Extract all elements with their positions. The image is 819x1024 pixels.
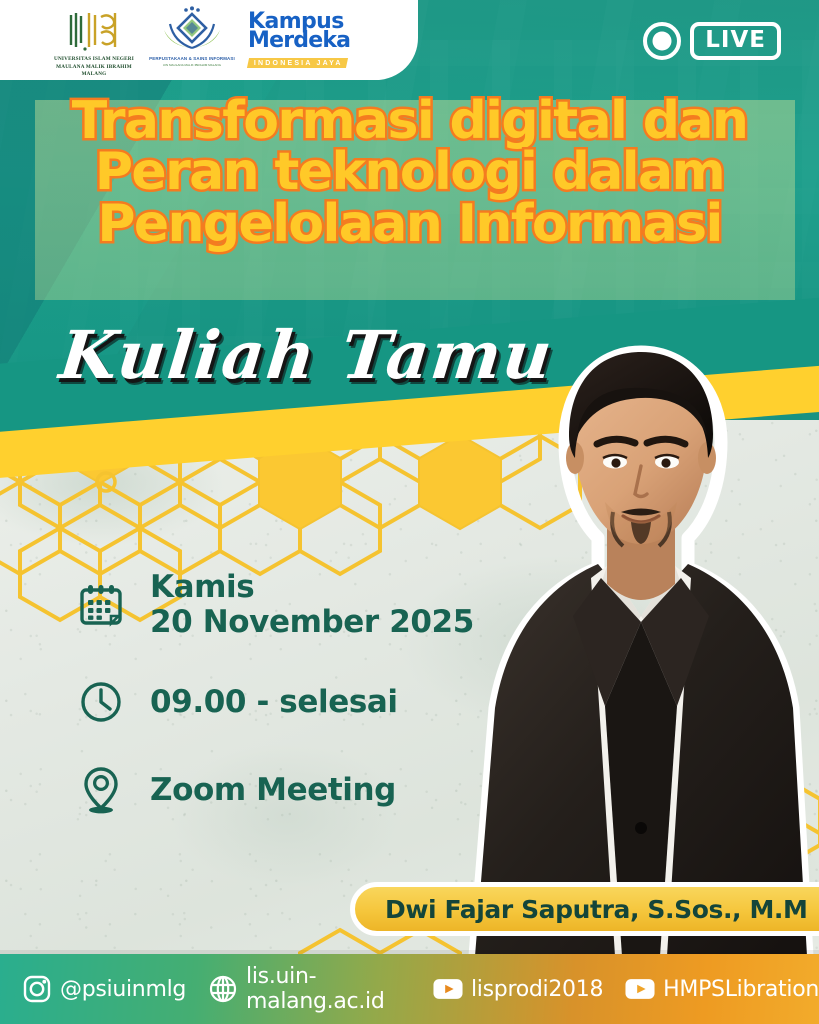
detail-row-time: 09.00 - selesai: [78, 677, 474, 727]
footer-instagram-handle: @psiuinmlg: [60, 977, 186, 1002]
detail-date-day: Kamis: [150, 570, 474, 605]
uin-caption-line-2: MAULANA MALIK IBRAHIM: [38, 64, 150, 72]
detail-date-full: 20 November 2025: [150, 605, 474, 640]
footer-item-instagram[interactable]: @psiuinmlg: [22, 974, 186, 1004]
detail-row-location: Zoom Meeting: [78, 765, 474, 815]
instagram-icon: [22, 974, 52, 1004]
location-pin-icon: [78, 765, 124, 815]
kampus-merdeka-band: INDONESIA JAYA: [247, 58, 348, 68]
uin-caption-line-3: MALANG: [38, 71, 150, 79]
title-line-1: Transformasi digital dan: [14, 96, 805, 147]
live-record-dot-icon: [643, 22, 681, 60]
globe-icon: [208, 974, 238, 1004]
youtube-icon: [433, 974, 463, 1004]
speaker-portrait: [455, 316, 819, 956]
footer-youtube-lisprodi: lisprodi2018: [471, 977, 603, 1002]
detail-row-date: Kamis 20 November 2025: [78, 570, 474, 639]
live-badge: LIVE: [643, 22, 781, 60]
footer-contact-bar: @psiuinmlg lis.uin-malang.ac.id lisprodi…: [0, 954, 819, 1024]
calendar-icon: [78, 580, 124, 630]
lotus-book-emblem-icon: [160, 6, 224, 54]
perpustakaan-caption: PERPUSTAKAAN & SAINS INFORMASI: [140, 56, 244, 62]
footer-item-youtube-lisprodi[interactable]: lisprodi2018: [433, 974, 603, 1004]
detail-time-value: 09.00 - selesai: [150, 685, 398, 720]
title-line-3: Pengelolaan Informasi: [14, 199, 805, 250]
kampus-merdeka-band-label: INDONESIA JAYA: [254, 59, 343, 66]
speaker-name: Dwi Fajar Saputra, S.Sos., M.M: [385, 895, 808, 924]
footer-item-youtube-hmps[interactable]: HMPSLibration: [625, 974, 819, 1004]
uin-arabic-calligraphy-mark-icon: [65, 7, 123, 53]
detail-location-value: Zoom Meeting: [150, 773, 396, 808]
kampus-merdeka-line-2: Merdeka: [248, 31, 358, 51]
perpustakaan-caption-sub: UIN MAULANA MALIK IBRAHIM MALANG: [140, 63, 244, 67]
event-poster: UNIVERSITAS ISLAM NEGERI MAULANA MALIK I…: [0, 0, 819, 1024]
live-label: LIVE: [690, 22, 781, 59]
footer-youtube-hmps: HMPSLibration: [663, 977, 819, 1002]
footer-item-website[interactable]: lis.uin-malang.ac.id: [208, 964, 411, 1014]
title-line-2: Peran teknologi dalam: [14, 147, 805, 198]
page-title: Transformasi digital dan Peran teknologi…: [0, 96, 819, 250]
clock-icon: [78, 677, 124, 727]
youtube-icon: [625, 974, 655, 1004]
footer-website-url: lis.uin-malang.ac.id: [246, 964, 411, 1014]
event-details: Kamis 20 November 2025 09.00 - selesai: [78, 570, 474, 853]
uin-caption-line-1: UNIVERSITAS ISLAM NEGERI: [38, 56, 150, 64]
kampus-merdeka-logo: Kampus Merdeka INDONESIA JAYA: [248, 12, 358, 69]
perpustakaan-logo: PERPUSTAKAAN & SAINS INFORMASI UIN MAULA…: [140, 6, 244, 67]
uin-logo: UNIVERSITAS ISLAM NEGERI MAULANA MALIK I…: [38, 7, 150, 79]
logo-header-bar: UNIVERSITAS ISLAM NEGERI MAULANA MALIK I…: [0, 0, 418, 80]
speaker-name-banner: Dwi Fajar Saputra, S.Sos., M.M: [350, 882, 819, 936]
